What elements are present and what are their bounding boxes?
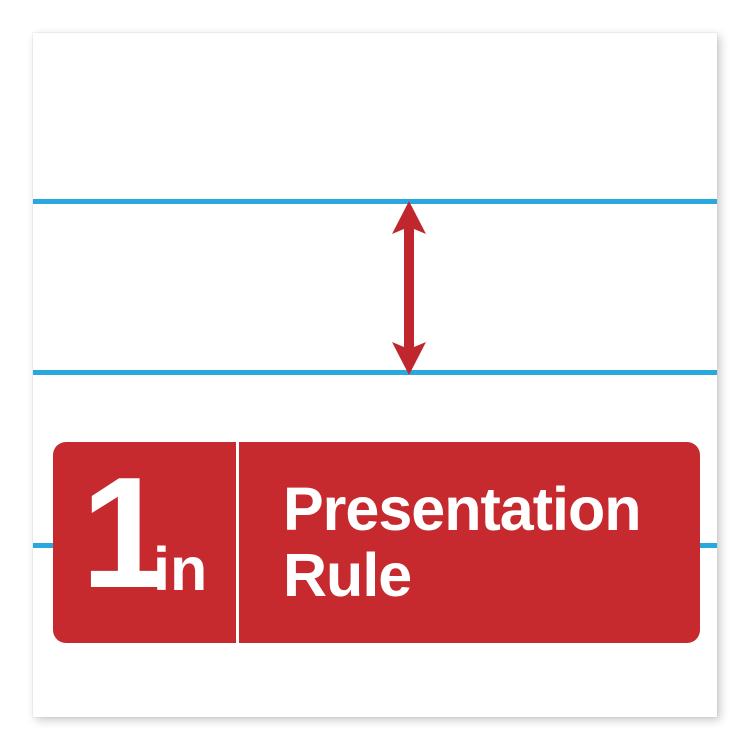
blue-rule-line-1 [33, 199, 717, 204]
product-image-canvas: 1 in Presentation Rule [0, 0, 750, 750]
badge-title-line-1: Presentation [283, 477, 684, 543]
badge-title-panel: Presentation Rule [239, 442, 700, 643]
rule-size-badge: 1 in Presentation Rule [53, 442, 700, 643]
measurement-double-arrow-icon [376, 201, 442, 375]
badge-measurement-panel: 1 in [53, 442, 236, 643]
blue-rule-line-2 [33, 370, 717, 375]
badge-title-line-2: Rule [283, 543, 684, 609]
paper-sheet: 1 in Presentation Rule [33, 33, 717, 717]
badge-size-unit: in [153, 539, 207, 600]
